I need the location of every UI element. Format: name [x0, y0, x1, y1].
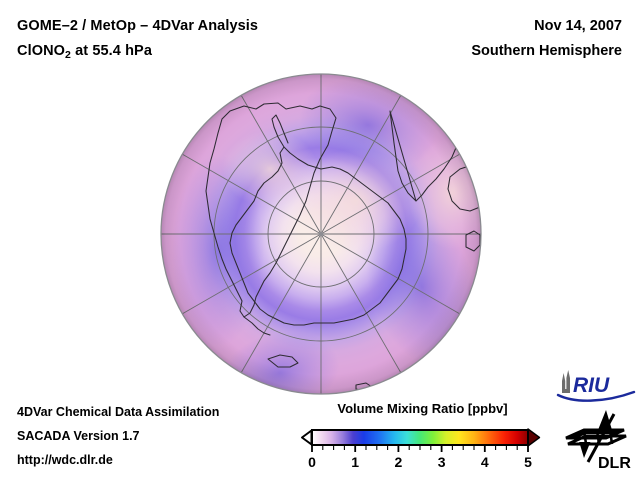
footer-method-label: 4DVar Chemical Data Assimilation [17, 400, 219, 424]
dlr-logo: DLR [562, 408, 636, 472]
colorbar-ticks [312, 445, 528, 452]
footer-url-label: http://wdc.dlr.de [17, 448, 219, 472]
south-pole-marker [319, 232, 323, 236]
species-label: ClONO [17, 43, 65, 59]
colorbar: Volume Mixing Ratio [ppbv] [300, 401, 545, 471]
figure-canvas: GOME–2 / MetOp – 4DVar Analysis ClONO2 a… [0, 0, 640, 480]
colorbar-title: Volume Mixing Ratio [ppbv] [300, 401, 545, 416]
colorbar-gradient [312, 430, 528, 445]
polar-projection-map [160, 73, 482, 395]
colorbar-tick-labels: 0 1 2 3 4 5 [308, 454, 532, 470]
date-label: Nov 14, 2007 [471, 14, 622, 39]
figure-header-right: Nov 14, 2007 Southern Hemisphere [471, 14, 622, 64]
colorbar-tick-label: 4 [481, 454, 489, 470]
region-label: Southern Hemisphere [471, 39, 622, 64]
riu-spires-icon [562, 370, 570, 393]
colorbar-tick-label: 1 [351, 454, 359, 470]
colorbar-under-range-cap [302, 431, 312, 445]
figure-subtitle: ClONO2 at 55.4 hPa [17, 39, 258, 65]
colorbar-tick-label: 2 [395, 454, 403, 470]
colorbar-tick-label: 5 [524, 454, 532, 470]
riu-logo: RIU [556, 369, 636, 405]
colorbar-graphic: 0 1 2 3 4 5 [300, 418, 545, 470]
figure-footer: 4DVar Chemical Data Assimilation SACADA … [17, 400, 219, 472]
colorbar-over-range-cap [528, 429, 540, 446]
globe-graphic [160, 73, 482, 395]
figure-title: GOME–2 / MetOp – 4DVar Analysis [17, 14, 258, 39]
figure-header-left: GOME–2 / MetOp – 4DVar Analysis ClONO2 a… [17, 14, 258, 65]
riu-wordmark: RIU [573, 374, 610, 397]
pressure-level-label: at 55.4 hPa [71, 43, 152, 59]
dlr-wordmark: DLR [598, 455, 631, 472]
footer-version-label: SACADA Version 1.7 [17, 424, 219, 448]
colorbar-tick-label: 3 [438, 454, 446, 470]
colorbar-tick-label: 0 [308, 454, 316, 470]
species-subscript: 2 [65, 49, 71, 61]
